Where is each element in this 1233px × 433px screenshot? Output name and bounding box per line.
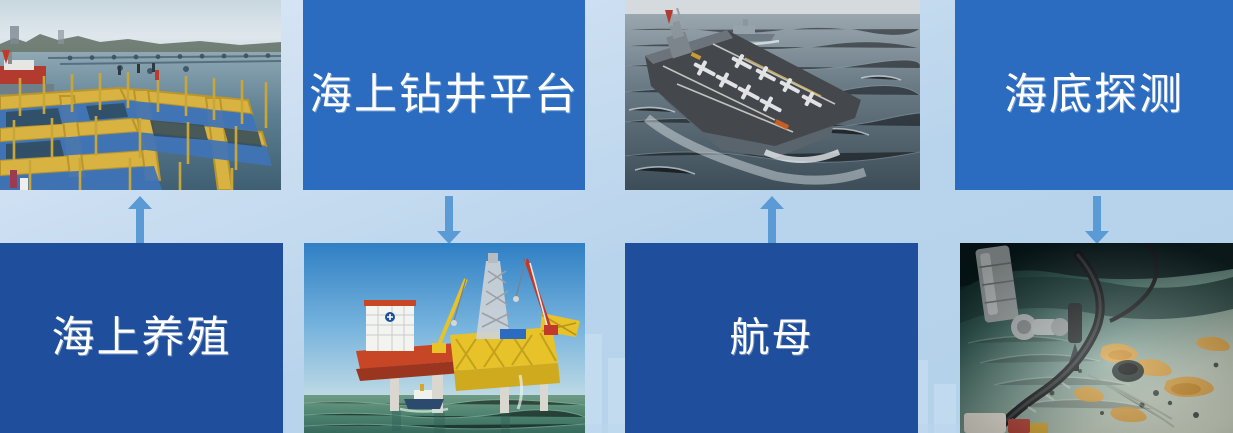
arrow-up-aircraft-carrier: [757, 196, 787, 244]
arrow-down-seabed-exploration: [1082, 196, 1112, 244]
aircraft-carrier-photo: [625, 0, 920, 190]
arrow-down-drilling-platform: [434, 196, 464, 244]
aircraft-carrier-label: 航母: [730, 318, 814, 358]
seabed-exploration-label: 海底探测: [1004, 74, 1184, 117]
offshore-aquaculture-label: 海上养殖: [52, 317, 232, 360]
bottom-cell-1-label-tile[interactable]: 海上养殖: [0, 243, 283, 433]
bottom-cell-2-image-wrap: [304, 243, 585, 433]
diagram-slide: 海上钻井平台: [0, 0, 1233, 433]
top-cell-4-label-tile[interactable]: 海底探测: [955, 0, 1233, 190]
bottom-cell-4-image-wrap: [960, 243, 1233, 433]
seabed-exploration-photo: [960, 243, 1233, 433]
top-cell-3-image-wrap: [625, 0, 920, 190]
top-cell-2-label-tile[interactable]: 海上钻井平台: [303, 0, 585, 190]
top-cell-1-image-wrap: [0, 0, 281, 190]
offshore-drilling-platform-photo: [304, 243, 585, 433]
arrow-up-aquaculture: [125, 196, 155, 244]
bottom-cell-3-label-tile[interactable]: 航母: [625, 243, 918, 433]
offshore-aquaculture-photo: [0, 0, 281, 190]
offshore-drilling-platform-label: 海上钻井平台: [309, 74, 579, 117]
